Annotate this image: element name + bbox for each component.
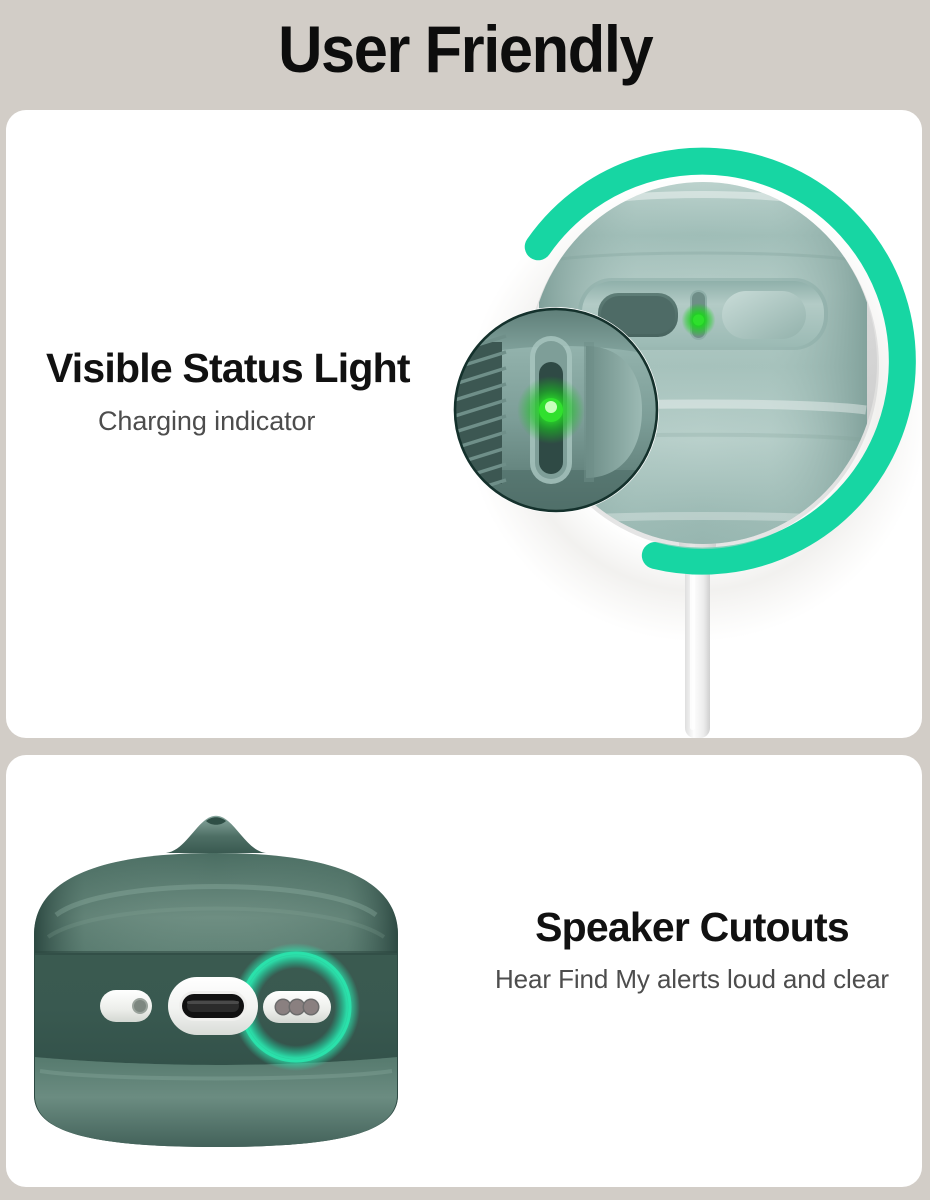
speaker-holes [263,991,331,1023]
status-light-text-block: Visible Status Light Charging indicator [46,346,410,437]
usb-c-port [168,977,258,1035]
case-pad [722,291,806,339]
page-header: User Friendly [0,0,930,104]
magnifier-callout [446,307,659,513]
case-bottom-svg [16,795,446,1175]
feature-card-speaker-cutouts: Speaker Cutouts Hear Find My alerts loud… [6,755,922,1187]
speaker-cutouts-subheading: Hear Find My alerts loud and clear [466,965,918,995]
page-title: User Friendly [278,16,652,88]
case-body [34,853,398,1147]
lanyard-hook [166,816,266,853]
speaker-cutouts-text-block: Speaker Cutouts Hear Find My alerts loud… [466,905,918,995]
magnified-speaker-grille [446,336,506,500]
status-light-artwork [446,110,922,738]
indicator-pill [100,990,152,1022]
earbuds-case-top [539,170,867,580]
speaker-cutouts-artwork [16,795,446,1175]
charging-arc-icon [529,135,922,579]
status-light-subheading: Charging indicator [98,406,410,437]
speaker-cutouts-heading: Speaker Cutouts [466,905,918,951]
charging-cable [679,496,716,738]
charging-puck [527,182,879,549]
status-light-heading: Visible Status Light [46,346,410,392]
feature-card-status-light: Visible Status Light Charging indicator [6,110,922,738]
status-led [682,290,716,340]
soft-halo [464,178,922,642]
magnified-status-led [517,336,585,484]
speaker-grille [598,293,678,337]
charging-scene-svg [446,110,922,738]
speaker-glow-ring [232,943,360,1071]
